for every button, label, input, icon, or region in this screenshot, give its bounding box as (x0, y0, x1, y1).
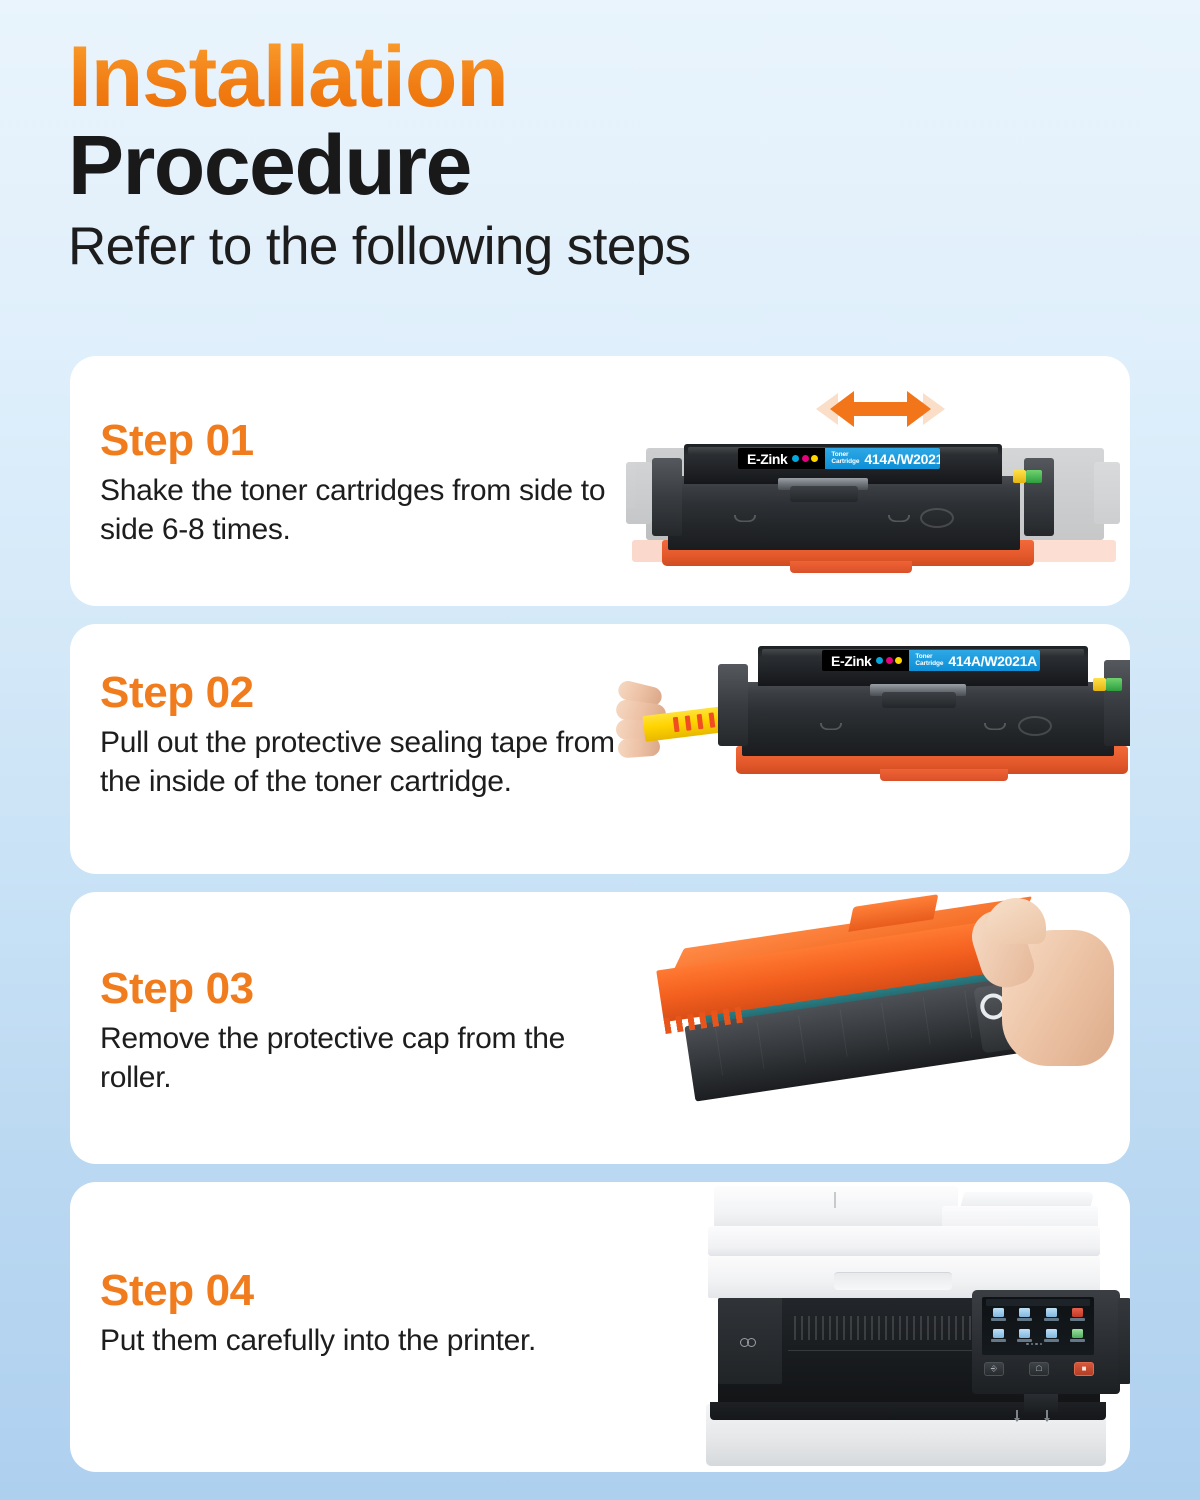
page-title-line2: Procedure (68, 123, 1128, 209)
label-brand-section: E-Zink (822, 650, 909, 671)
panel-indicator-left (1014, 1410, 1020, 1422)
cmyk-dots-icon (876, 657, 902, 664)
brand-name: E-Zink (831, 654, 871, 668)
touchscreen-app-job-storage[interactable] (986, 1329, 1011, 1348)
step-03-label: Step 03 (100, 966, 620, 1012)
supplies-icon (1072, 1308, 1083, 1317)
step-card-03: Step 03 Remove the protective cap from t… (70, 892, 1130, 1164)
fax-icon (1019, 1308, 1030, 1317)
touchscreen-app-scan[interactable] (1039, 1308, 1064, 1327)
touchscreen-app-device-maintenance[interactable] (1013, 1329, 1038, 1348)
steps-list: Step 01 Shake the toner cartridges from … (70, 356, 1130, 1490)
page-title-line1: Installation (68, 36, 1128, 119)
label-type-text: Toner Cartridge (915, 654, 943, 668)
hand-icon (960, 896, 1120, 1076)
step-card-02: Step 02 Pull out the protective sealing … (70, 624, 1130, 874)
toner-cartridge-group: E-Zink Toner Cartridge (630, 432, 1126, 572)
sign-in-button[interactable]: ⎆ (984, 1362, 1004, 1376)
double-arrow-horizontal-icon (808, 386, 953, 432)
step-01-illustration: E-Zink Toner Cartridge (630, 356, 1130, 606)
label-model-section: Toner Cartridge 414A/W2021A C (909, 650, 1040, 671)
step-02-illustration: E-Zink Toner Cartridge 414A/W2021A (610, 624, 1130, 874)
step-02-text-block: Step 02 Pull out the protective sealing … (100, 670, 620, 801)
step-03-illustration (660, 892, 1130, 1164)
cartridge-brand-label: E-Zink Toner Cartridge 414A/W2021A (822, 650, 1040, 671)
printer-left-panel (718, 1298, 782, 1384)
scan-icon (1046, 1308, 1057, 1317)
step-03-text-block: Step 03 Remove the protective cap from t… (100, 966, 620, 1097)
panel-indicator-right (1044, 1410, 1050, 1422)
printer-touchscreen[interactable] (982, 1297, 1094, 1355)
usb-port-icon (740, 1338, 760, 1347)
label-type-text: Toner Cartridge (831, 452, 859, 466)
step-card-01: Step 01 Shake the toner cartridges from … (70, 356, 1130, 606)
step-04-description: Put them carefully into the printer. (100, 1322, 620, 1360)
touchscreen-app-fax[interactable] (1013, 1308, 1038, 1327)
touchscreen-status-bar (986, 1299, 1090, 1306)
copy-icon (993, 1308, 1004, 1317)
label-model-section: Toner Cartridge 414A/W2021A C (825, 448, 940, 469)
brand-name: E-Zink (747, 452, 787, 466)
toner-cartridge: E-Zink Toner Cartridge (648, 434, 1048, 566)
touchscreen-app-help[interactable] (1066, 1329, 1091, 1348)
step-03-description: Remove the protective cap from the rolle… (100, 1020, 620, 1097)
page-subtitle: Refer to the following steps (68, 218, 1128, 276)
step-02-label: Step 02 (100, 670, 620, 716)
step-01-text-block: Step 01 Shake the toner cartridges from … (100, 418, 620, 549)
printer-control-panel[interactable]: ⎆ ☖ ■ (972, 1290, 1120, 1394)
printer-front-door-grip (834, 1272, 952, 1290)
device-maintenance-icon (1019, 1329, 1030, 1338)
home-button[interactable]: ☖ (1029, 1362, 1049, 1376)
stop-button[interactable]: ■ (1074, 1362, 1094, 1376)
printer-scanner-lid (714, 1186, 958, 1228)
printer-scanner-body (708, 1226, 1100, 1256)
step-04-illustration: ⎆ ☖ ■ (700, 1182, 1130, 1472)
help-icon (1072, 1329, 1083, 1338)
touchscreen-page-indicator (1026, 1343, 1042, 1346)
printer-hardware-buttons[interactable]: ⎆ ☖ ■ (984, 1362, 1094, 1376)
touchscreen-app-copy[interactable] (986, 1308, 1011, 1327)
label-model-number: 414A/W2021A (948, 654, 1037, 668)
step-04-text-block: Step 04 Put them carefully into the prin… (100, 1268, 620, 1361)
page-header: Installation Procedure Refer to the foll… (68, 36, 1128, 277)
cmyk-dots-icon (792, 455, 818, 462)
network-icon (1046, 1329, 1057, 1338)
touchscreen-app-supplies[interactable] (1066, 1308, 1091, 1327)
touchscreen-app-network[interactable] (1039, 1329, 1064, 1348)
step-01-description: Shake the toner cartridges from side to … (100, 472, 620, 549)
step-02-description: Pull out the protective sealing tape fro… (100, 724, 620, 801)
step-card-04: Step 04 Put them carefully into the prin… (70, 1182, 1130, 1472)
cartridge-brand-label: E-Zink Toner Cartridge (738, 448, 940, 469)
step-04-label: Step 04 (100, 1268, 620, 1314)
toner-cartridge: E-Zink Toner Cartridge 414A/W2021A (722, 636, 1126, 774)
label-brand-section: E-Zink (738, 448, 825, 469)
job-storage-icon (993, 1329, 1004, 1338)
label-model-number: 414A/W2021A (864, 452, 940, 466)
step-01-label: Step 01 (100, 418, 620, 464)
